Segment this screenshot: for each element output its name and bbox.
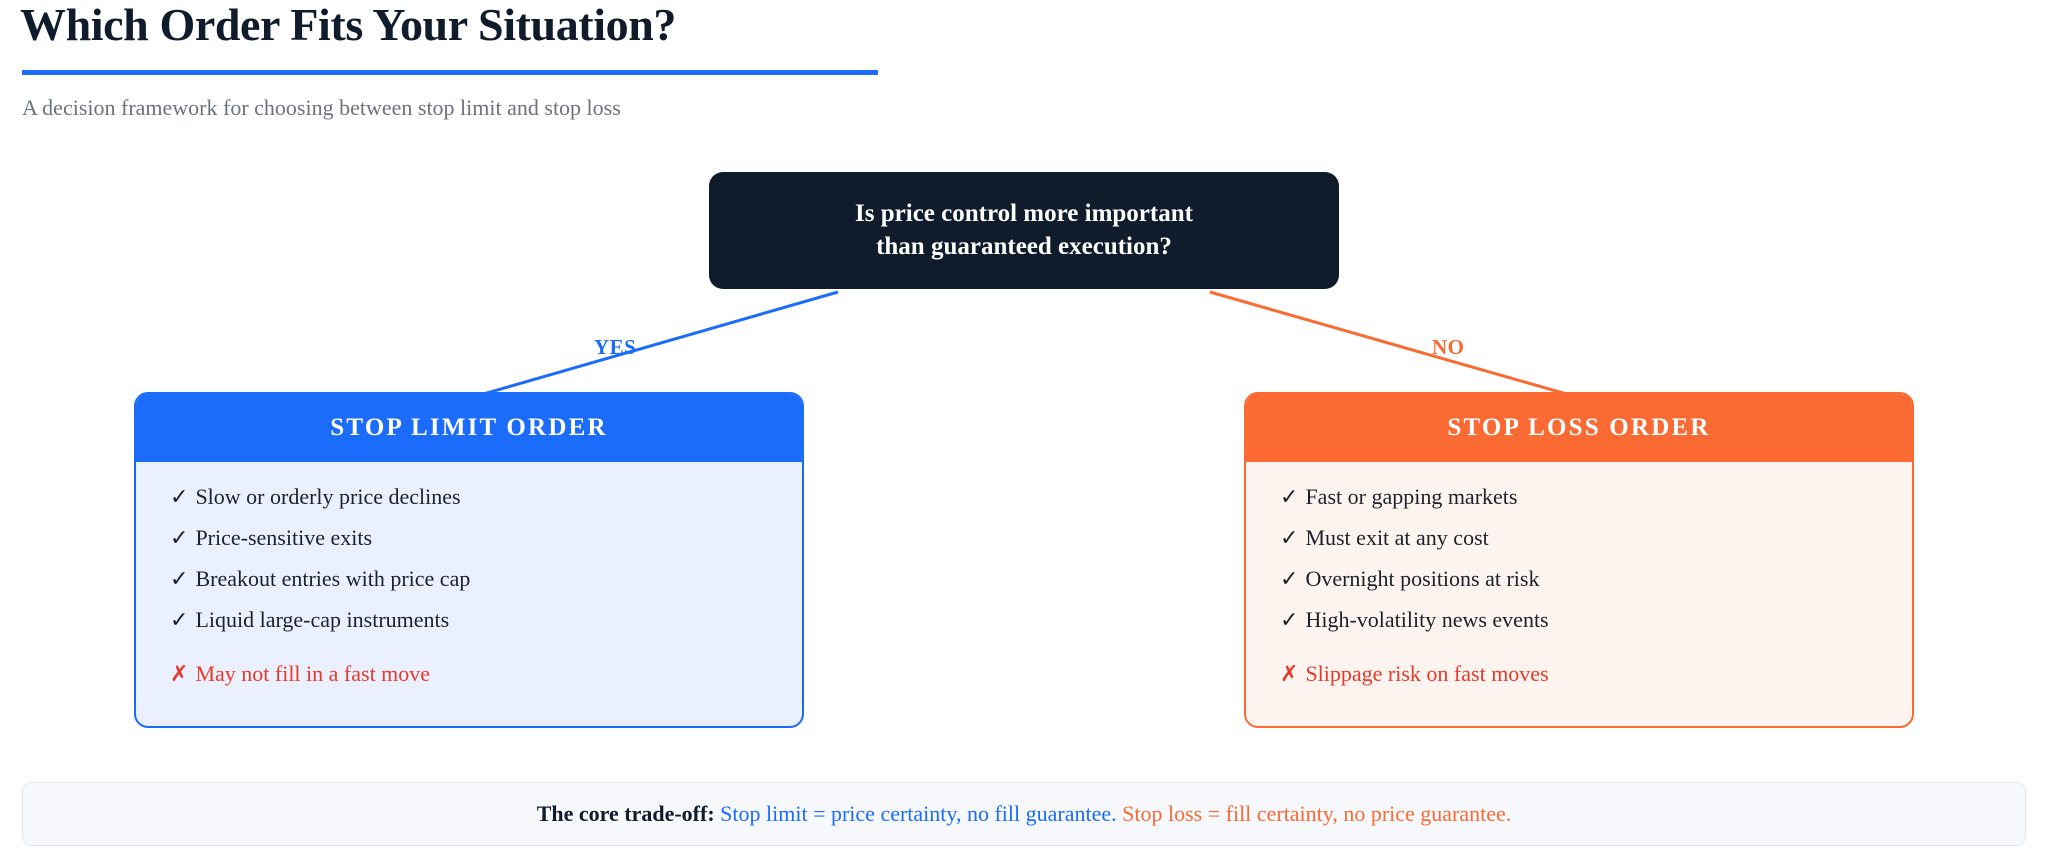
- check-icon: ✓: [170, 484, 188, 509]
- decision-question-line2: than guaranteed execution?: [876, 233, 1172, 260]
- tradeoff-stop-loss-text: Stop loss = fill certainty, no price gua…: [1122, 801, 1511, 826]
- list-item: ✓High-volatility news events: [1280, 609, 1878, 631]
- list-item: ✓Liquid large-cap instruments: [170, 609, 768, 631]
- decision-node: Is price control more important than gua…: [709, 172, 1339, 289]
- tradeoff-summary-text: The core trade-off: Stop limit = price c…: [537, 801, 1512, 827]
- list-item-warning: ✗May not fill in a fast move: [170, 663, 768, 685]
- tradeoff-lead-label: The core trade-off:: [537, 801, 715, 826]
- edge-label-yes: YES: [594, 335, 636, 360]
- tradeoff-stop-limit-text: Stop limit = price certainty, no fill gu…: [720, 801, 1116, 826]
- list-item-warning-label: May not fill in a fast move: [195, 661, 430, 686]
- list-item-label: Slow or orderly price declines: [195, 484, 460, 509]
- list-item-label: Breakout entries with price cap: [195, 566, 470, 591]
- list-item-warning: ✗Slippage risk on fast moves: [1280, 663, 1878, 685]
- check-icon: ✓: [1280, 484, 1298, 509]
- list-item-warning-label: Slippage risk on fast moves: [1305, 661, 1548, 686]
- list-item-label: Price-sensitive exits: [195, 525, 372, 550]
- card-stop-limit-header: STOP LIMIT ORDER: [136, 394, 802, 462]
- list-item: ✓Slow or orderly price declines: [170, 486, 768, 508]
- check-icon: ✓: [170, 525, 188, 550]
- list-item-label: High-volatility news events: [1305, 607, 1548, 632]
- list-item-label: Liquid large-cap instruments: [195, 607, 449, 632]
- connector-yes-line: [480, 292, 838, 395]
- card-stop-limit-body: ✓Slow or orderly price declines ✓Price-s…: [136, 462, 802, 685]
- card-stop-loss[interactable]: STOP LOSS ORDER ✓Fast or gapping markets…: [1244, 392, 1914, 728]
- check-icon: ✓: [1280, 607, 1298, 632]
- list-item: ✓Fast or gapping markets: [1280, 486, 1878, 508]
- tradeoff-summary-bar: The core trade-off: Stop limit = price c…: [22, 782, 2026, 846]
- check-icon: ✓: [170, 566, 188, 591]
- list-item: ✓Overnight positions at risk: [1280, 568, 1878, 590]
- connector-no-line: [1210, 292, 1570, 395]
- list-item-label: Overnight positions at risk: [1305, 566, 1539, 591]
- decision-question-line1: Is price control more important: [855, 200, 1193, 227]
- page-title: Which Order Fits Your Situation?: [20, 0, 676, 51]
- card-stop-limit[interactable]: STOP LIMIT ORDER ✓Slow or orderly price …: [134, 392, 804, 728]
- check-icon: ✓: [1280, 525, 1298, 550]
- decision-question: Is price control more important than gua…: [835, 198, 1213, 263]
- list-item: ✓Price-sensitive exits: [170, 527, 768, 549]
- list-item-label: Must exit at any cost: [1305, 525, 1488, 550]
- list-item: ✓Must exit at any cost: [1280, 527, 1878, 549]
- check-icon: ✓: [1280, 566, 1298, 591]
- card-stop-loss-body: ✓Fast or gapping markets ✓Must exit at a…: [1246, 462, 1912, 685]
- list-item: ✓Breakout entries with price cap: [170, 568, 768, 590]
- check-icon: ✓: [170, 607, 188, 632]
- title-underline-rule: [22, 70, 878, 75]
- cross-icon: ✗: [170, 661, 188, 686]
- page-subtitle: A decision framework for choosing betwee…: [22, 95, 621, 121]
- list-item-label: Fast or gapping markets: [1305, 484, 1517, 509]
- card-stop-loss-header: STOP LOSS ORDER: [1246, 394, 1912, 462]
- edge-label-no: NO: [1432, 335, 1465, 360]
- cross-icon: ✗: [1280, 661, 1298, 686]
